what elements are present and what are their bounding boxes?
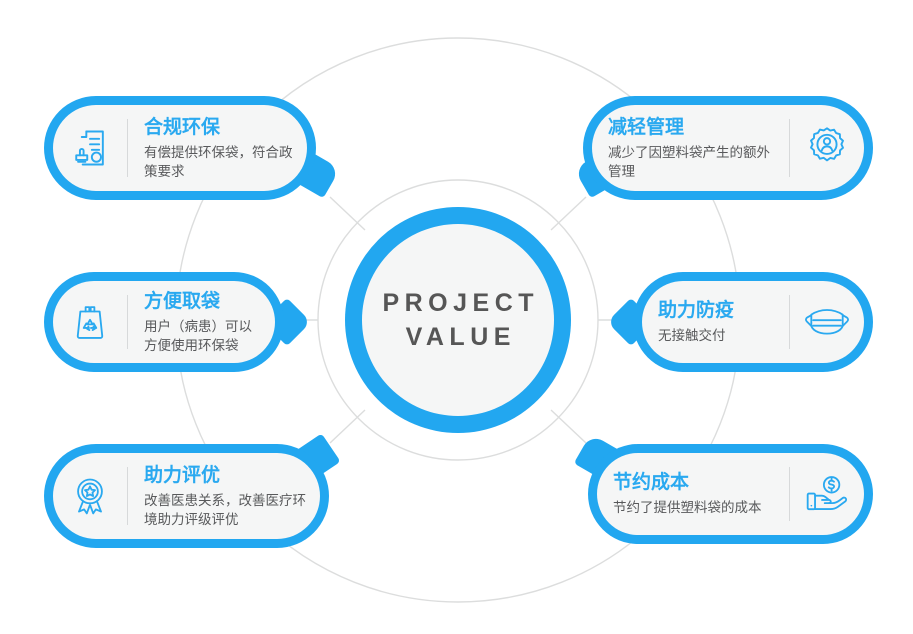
value-card-rating-inner: 助力评优 改善医患关系，改善医疗环境助力评级评优	[53, 453, 320, 539]
card-title: 减轻管理	[608, 116, 775, 140]
center-hub-inner: PROJECT VALUE	[362, 224, 554, 416]
gear-person-icon	[790, 125, 864, 171]
card-description: 减少了因塑料袋产生的额外管理	[608, 143, 775, 181]
document-stamp-icon	[53, 126, 127, 170]
value-card-compliance-inner: 合规环保 有偿提供环保袋，符合政策要求	[53, 105, 307, 191]
card-description: 用户（病患）可以方便使用环保袋	[144, 317, 261, 355]
hand-money-icon	[790, 474, 864, 514]
value-card-epidemic[interactable]: 助力防疫 无接触交付	[633, 272, 873, 372]
center-hub: PROJECT VALUE	[345, 207, 571, 433]
infographic-canvas: PROJECT VALUE 合规环保	[0, 0, 913, 634]
value-card-epidemic-inner: 助力防疫 无接触交付	[642, 281, 864, 363]
card-title: 助力评优	[144, 464, 306, 488]
face-mask-icon	[790, 302, 864, 342]
value-card-cost[interactable]: 节约成本 节约了提供塑料袋的成本	[588, 444, 873, 544]
value-card-rating[interactable]: 助力评优 改善医患关系，改善医疗环境助力评级评优	[44, 444, 329, 548]
card-description: 改善医患关系，改善医疗环境助力评级评优	[144, 491, 306, 529]
card-description: 有偿提供环保袋，符合政策要求	[144, 143, 293, 181]
card-title: 合规环保	[144, 116, 293, 140]
spoke-upper-right	[551, 197, 586, 230]
value-card-cost-inner: 节约成本 节约了提供塑料袋的成本	[597, 453, 864, 535]
value-card-compliance[interactable]: 合规环保 有偿提供环保袋，符合政策要求	[44, 96, 316, 200]
value-card-compliance-text: 合规环保 有偿提供环保袋，符合政策要求	[128, 116, 307, 181]
value-card-epidemic-text: 助力防疫 无接触交付	[642, 299, 789, 345]
card-title: 助力防疫	[658, 299, 775, 323]
recycle-bag-icon	[53, 301, 127, 343]
value-card-management-inner: 减轻管理 减少了因塑料袋产生的额外管理	[592, 105, 864, 191]
card-title: 方便取袋	[144, 290, 261, 314]
card-description: 无接触交付	[658, 326, 775, 345]
hub-title-line-2: VALUE	[400, 320, 516, 354]
value-card-rating-text: 助力评优 改善医患关系，改善医疗环境助力评级评优	[128, 464, 320, 529]
card-description: 节约了提供塑料袋的成本	[613, 498, 775, 517]
value-card-cost-text: 节约成本 节约了提供塑料袋的成本	[597, 471, 789, 517]
value-card-convenience-text: 方便取袋 用户（病患）可以方便使用环保袋	[128, 290, 275, 355]
value-card-management[interactable]: 减轻管理 减少了因塑料袋产生的额外管理	[583, 96, 873, 200]
value-card-management-text: 减轻管理 减少了因塑料袋产生的额外管理	[592, 116, 789, 181]
value-card-convenience-inner: 方便取袋 用户（病患）可以方便使用环保袋	[53, 281, 275, 363]
hub-title-line-1: PROJECT	[377, 286, 539, 320]
card-title: 节约成本	[613, 471, 775, 495]
value-card-convenience[interactable]: 方便取袋 用户（病患）可以方便使用环保袋	[44, 272, 284, 372]
spoke-lower-right	[551, 410, 586, 443]
spoke-lower-left	[330, 410, 365, 443]
award-medal-icon	[53, 474, 127, 518]
spoke-upper-left	[330, 197, 365, 230]
